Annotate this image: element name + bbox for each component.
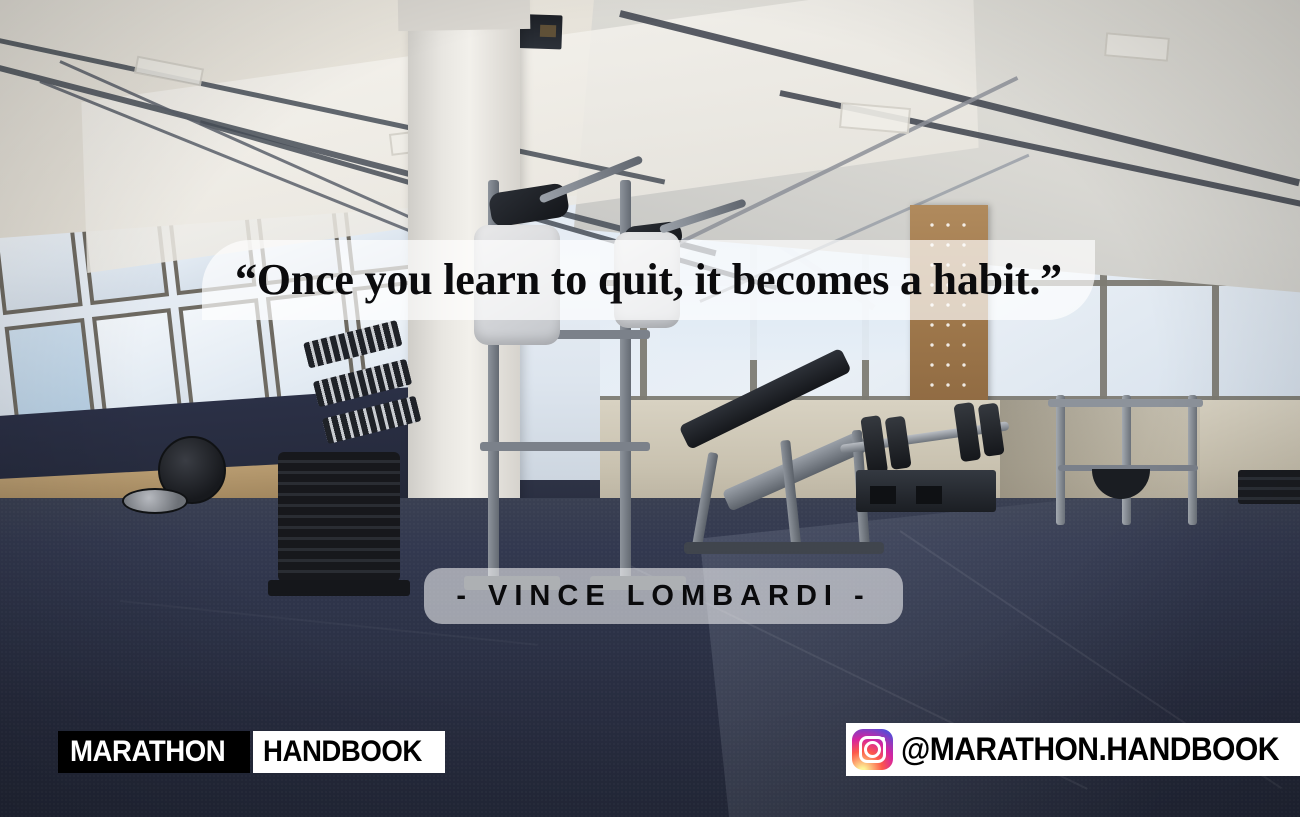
lifting-platform-block [856,470,996,512]
marathon-handbook-logo[interactable]: MARATHON HANDBOOK [58,731,445,773]
author-name: - VINCE LOMBARDI - [456,580,870,613]
weight-plate-stack [278,452,400,582]
gym-background-photo [0,0,1300,817]
instagram-handle-text: @MARATHON.HANDBOOK [901,731,1279,768]
logo-wordmark-block-dark: MARATHON [58,731,250,773]
quote-text: “Once you learn to quit, it becomes a ha… [235,258,1062,302]
author-badge: - VINCE LOMBARDI - [424,568,903,624]
pillar-cap [398,0,531,31]
instagram-handle-bar[interactable]: @MARATHON.HANDBOOK [846,723,1300,776]
weight-plate [122,488,188,514]
quote-banner: “Once you learn to quit, it becomes a ha… [202,240,1095,320]
logo-wordmark-block-light: HANDBOOK [253,731,446,773]
far-power-rack [1048,395,1208,525]
logo-word-marathon: MARATHON [70,735,225,769]
logo-word-handbook: HANDBOOK [263,735,422,769]
quote-graphic-canvas: “Once you learn to quit, it becomes a ha… [0,0,1300,817]
instagram-icon [852,729,893,770]
far-weight-plates [1238,470,1300,504]
